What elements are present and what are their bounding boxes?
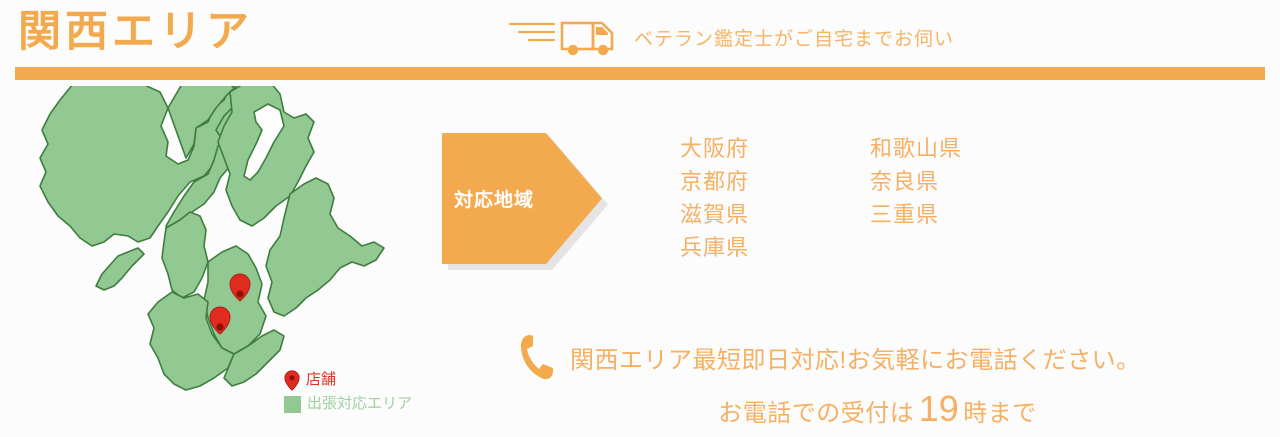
contact-hours-value: 19 (919, 388, 959, 429)
legend-label-store: 店舗 (306, 369, 336, 391)
prefecture-item: 三重県 (870, 198, 1040, 231)
prefecture-column-2: 和歌山県 奈良県 三重県 (850, 132, 1040, 264)
map-legend: 店舗 出張対応エリア (284, 368, 412, 416)
legend-label-area: 出張対応エリア (307, 393, 412, 415)
map-pin-icon (284, 370, 306, 391)
area-banner: 対応地域 (442, 133, 602, 264)
area-banner-label: 対応地域 (442, 133, 546, 264)
map-region-awaji (96, 248, 144, 290)
prefecture-item: 大阪府 (680, 132, 850, 165)
contact-line-primary: 関西エリア最短即日対応!お気軽にお電話ください。 (520, 332, 1265, 382)
contact-text-primary: 関西エリア最短即日対応!お気軽にお電話ください。 (570, 340, 1141, 375)
delivery-tagline: ベテラン鑑定士がご自宅までお伺い (508, 14, 954, 60)
legend-row-store: 店舗 (284, 368, 412, 392)
prefecture-item: 京都府 (680, 165, 850, 198)
prefecture-item: 兵庫県 (680, 231, 850, 264)
contact-hours-prefix: お電話での受付は (718, 400, 914, 427)
contact-line-secondary: お電話での受付は 19 時まで (520, 388, 1265, 430)
delivery-truck-icon (508, 15, 618, 59)
prefecture-item: 滋賀県 (680, 198, 850, 231)
prefecture-column-1: 大阪府 京都府 滋賀県 兵庫県 (660, 132, 850, 264)
legend-row-area: 出張対応エリア (284, 392, 412, 416)
area-swatch (284, 396, 301, 413)
header-divider-rule (15, 67, 1265, 80)
contact-hours-suffix: 時まで (963, 400, 1037, 427)
prefecture-item: 和歌山県 (870, 132, 1040, 165)
prefecture-item: 奈良県 (870, 165, 1040, 198)
prefecture-list: 大阪府 京都府 滋賀県 兵庫県 和歌山県 奈良県 三重県 (660, 132, 1040, 264)
delivery-tagline-text: ベテラン鑑定士がご自宅までお伺い (634, 24, 954, 51)
contact-block: 関西エリア最短即日対応!お気軽にお電話ください。 お電話での受付は 19 時まで (520, 332, 1265, 430)
phone-handset-icon (520, 334, 554, 380)
page-title: 関西エリア (18, 2, 253, 62)
